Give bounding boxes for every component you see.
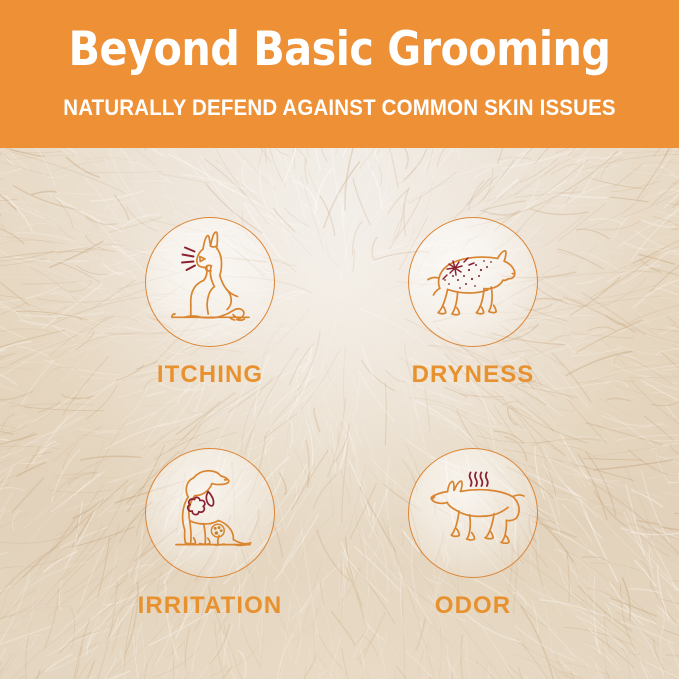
feature-item-dryness[interactable]: DRYNESS	[373, 217, 573, 427]
dog-odor-icon	[409, 449, 538, 578]
feature-item-irritation[interactable]: IRRITATION	[110, 448, 310, 658]
feature-label: DRYNESS	[373, 361, 573, 389]
feature-label: ODOR	[373, 592, 573, 620]
feature-item-odor[interactable]: ODOR	[373, 448, 573, 658]
feature-item-itching[interactable]: ITCHING	[110, 217, 310, 427]
feature-label: IRRITATION	[110, 592, 310, 620]
dog-flaky-skin-icon	[409, 218, 538, 347]
feature-icon-circle	[408, 448, 538, 578]
feature-icon-circle	[145, 217, 275, 347]
page-title: Beyond Basic Grooming	[41, 24, 639, 76]
dog-irritated-patch-icon	[146, 449, 275, 578]
header-banner: Beyond Basic Grooming NATURALLY DEFEND A…	[0, 0, 679, 148]
dog-scratching-icon	[146, 218, 275, 347]
feature-grid: ITCHING	[0, 148, 679, 679]
page-subtitle: NATURALLY DEFEND AGAINST COMMON SKIN ISS…	[24, 95, 655, 121]
feature-label: ITCHING	[110, 361, 310, 389]
feature-icon-circle	[408, 217, 538, 347]
feature-icon-circle	[145, 448, 275, 578]
product-infographic: Beyond Basic Grooming NATURALLY DEFEND A…	[0, 0, 679, 679]
